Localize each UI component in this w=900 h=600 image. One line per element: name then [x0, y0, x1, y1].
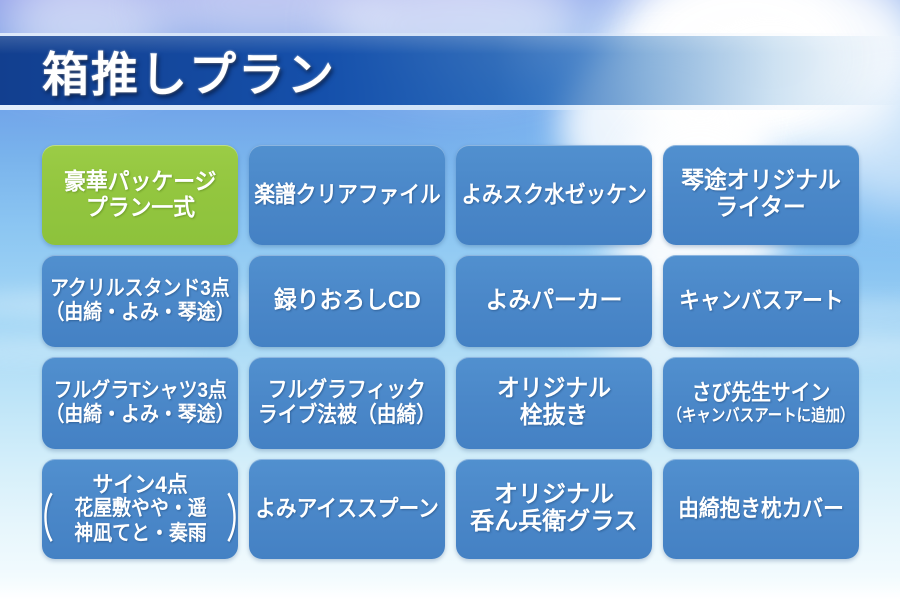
grid-item-line: フルグラフィック: [268, 378, 426, 403]
grid-item-heading: サイン4点: [92, 473, 187, 498]
grid-item-newly-recorded-cd[interactable]: 録りおろしCD: [249, 255, 445, 347]
grid-item-full-graphic-tshirt-3[interactable]: フルグラTシャツ3点 （由綺・よみ・琴途）: [42, 357, 238, 449]
page-title: 箱推しプラン: [42, 36, 336, 105]
grid-item-yomi-ice-spoon[interactable]: よみアイススプーン: [249, 459, 445, 559]
grid-item-line: 花屋敷やや・遥: [74, 497, 206, 521]
plan-item-grid: 豪華パッケージ プラン一式 楽譜クリアファイル よみスク水ゼッケン 琴途オリジナ…: [42, 145, 858, 559]
grid-item-line: ライブ法被（由綺）: [258, 403, 436, 428]
grid-item-line: プラン一式: [85, 195, 194, 221]
grid-item-bracket-group: （ 花屋敷やや・遥 神凪てと・奏雨 ）: [42, 497, 238, 545]
grid-item-yuki-dakimakura-cover[interactable]: 由綺抱き枕カバー: [663, 459, 859, 559]
slide-canvas: 箱推しプラン 豪華パッケージ プラン一式 楽譜クリアファイル よみスク水ゼッケン…: [0, 0, 900, 600]
grid-item-score-clear-file[interactable]: 楽譜クリアファイル: [249, 145, 445, 245]
grid-item-line: ライター: [716, 195, 806, 222]
grid-item-line: 豪華パッケージ: [64, 169, 217, 195]
grid-item-kotoji-original-lighter[interactable]: 琴途オリジナル ライター: [663, 145, 859, 245]
grid-item-line: よみパーカー: [486, 288, 623, 315]
grid-item-acrylic-stand-3[interactable]: アクリルスタンド3点 （由綺・よみ・琴途）: [42, 255, 238, 347]
bracket-right: ）: [225, 499, 238, 543]
title-banner: 箱推しプラン: [0, 33, 900, 113]
grid-item-line: よみアイススプーン: [255, 496, 439, 522]
grid-item-line: オリジナル: [497, 376, 611, 403]
grid-item-line: 琴途オリジナル: [681, 168, 841, 195]
grid-item-line: アクリルスタンド3点: [50, 277, 230, 301]
grid-item-line: フルグラTシャツ3点: [53, 379, 226, 403]
grid-item-line: キャンバスアート: [679, 288, 843, 314]
grid-item-yomisuku-swim-bib[interactable]: よみスク水ゼッケン: [456, 145, 652, 245]
grid-item-line: 栓抜き: [520, 403, 588, 430]
grid-item-line: 楽譜クリアファイル: [254, 182, 440, 208]
grid-item-line: 由綺抱き枕カバー: [678, 496, 844, 522]
grid-item-package-plan[interactable]: 豪華パッケージ プラン一式: [42, 145, 238, 245]
grid-item-line: よみスク水ゼッケン: [461, 182, 647, 208]
grid-item-line: （由綺・よみ・琴途）: [46, 403, 235, 427]
grid-item-subline: （キャンバスアートに追加）: [668, 406, 855, 425]
grid-item-original-nombei-glass[interactable]: オリジナル 呑ん兵衛グラス: [456, 459, 652, 559]
grid-item-original-bottle-opener[interactable]: オリジナル 栓抜き: [456, 357, 652, 449]
grid-item-line: （由綺・よみ・琴途）: [46, 301, 235, 325]
banner-bottom-hairline: [0, 105, 900, 110]
grid-item-line: オリジナル: [494, 482, 614, 509]
bracket-left: （: [42, 499, 55, 543]
grid-item-sabi-sensei-sign[interactable]: さび先生サイン （キャンバスアートに追加）: [663, 357, 859, 449]
grid-item-canvas-art[interactable]: キャンバスアート: [663, 255, 859, 347]
grid-item-line: 呑ん兵衛グラス: [470, 509, 638, 536]
grid-item-full-graphic-happi[interactable]: フルグラフィック ライブ法被（由綺）: [249, 357, 445, 449]
grid-item-line: さび先生サイン: [692, 381, 831, 406]
grid-item-line: 神凪てと・奏雨: [74, 522, 206, 546]
grid-item-line: 録りおろしCD: [274, 288, 421, 315]
grid-item-yomi-parka[interactable]: よみパーカー: [456, 255, 652, 347]
grid-item-sign-4[interactable]: サイン4点 （ 花屋敷やや・遥 神凪てと・奏雨 ）: [42, 459, 238, 559]
